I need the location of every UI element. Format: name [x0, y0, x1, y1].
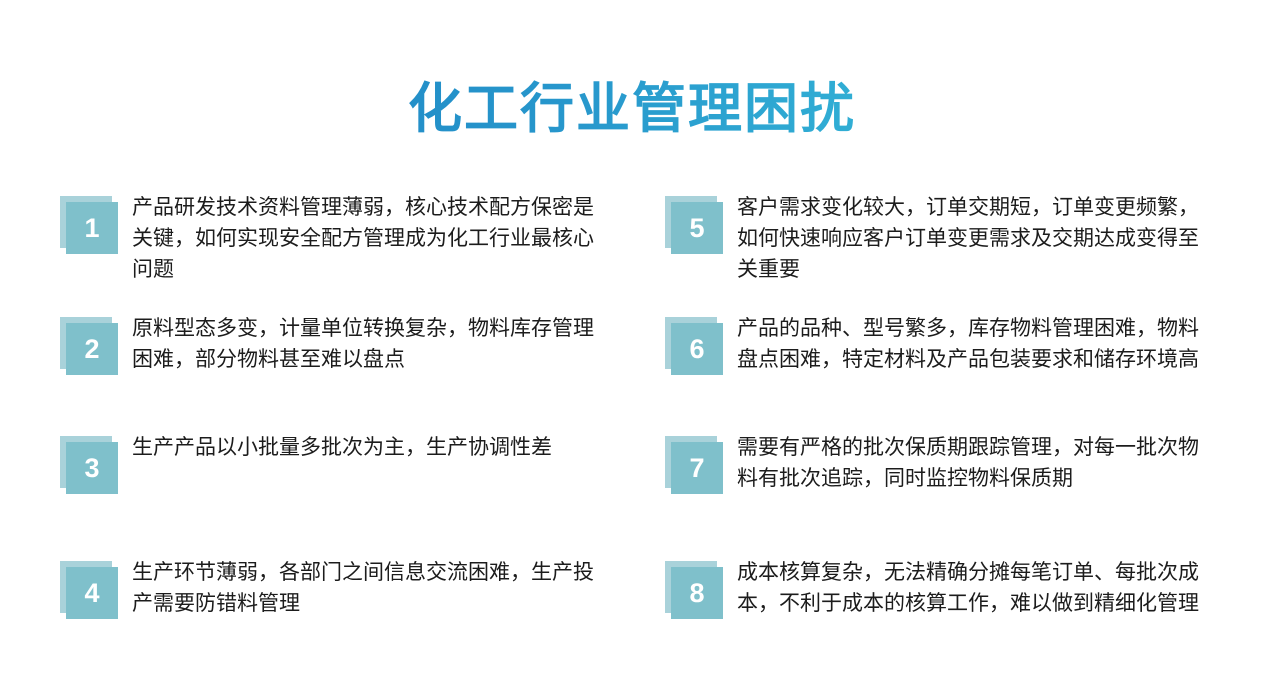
list-item-text: 产品研发技术资料管理薄弱，核心技术配方保密是关键，如何实现安全配方管理成为化工行… — [132, 192, 610, 285]
number-badge: 7 — [663, 436, 725, 498]
list-item: 1 产品研发技术资料管理薄弱，核心技术配方保密是关键，如何实现安全配方管理成为化… — [58, 192, 618, 285]
list-item: 7 需要有严格的批次保质期跟踪管理，对每一批次物料有批次追踪，同时监控物料保质期 — [663, 432, 1223, 498]
badge-front-square: 8 — [671, 567, 723, 619]
issue-columns: 1 产品研发技术资料管理薄弱，核心技术配方保密是关键，如何实现安全配方管理成为化… — [0, 180, 1264, 680]
number-badge: 6 — [663, 317, 725, 379]
number-badge: 3 — [58, 436, 120, 498]
list-item-text: 成本核算复杂，无法精确分摊每笔订单、每批次成本，不利于成本的核算工作，难以做到精… — [737, 557, 1215, 619]
badge-number: 4 — [84, 580, 99, 607]
badge-front-square: 7 — [671, 442, 723, 494]
badge-front-square: 6 — [671, 323, 723, 375]
badge-number: 8 — [689, 580, 704, 607]
page-title: 化工行业管理困扰 — [0, 80, 1264, 139]
list-item-text: 生产环节薄弱，各部门之间信息交流困难，生产投产需要防错料管理 — [132, 557, 610, 619]
list-item-text: 需要有严格的批次保质期跟踪管理，对每一批次物料有批次追踪，同时监控物料保质期 — [737, 432, 1215, 494]
list-item-text: 原料型态多变，计量单位转换复杂，物料库存管理困难，部分物料甚至难以盘点 — [132, 313, 610, 375]
list-item: 2 原料型态多变，计量单位转换复杂，物料库存管理困难，部分物料甚至难以盘点 — [58, 313, 618, 379]
list-item: 4 生产环节薄弱，各部门之间信息交流困难，生产投产需要防错料管理 — [58, 557, 618, 623]
badge-front-square: 2 — [66, 323, 118, 375]
list-item-text: 客户需求变化较大，订单交期短，订单变更频繁，如何快速响应客户订单变更需求及交期达… — [737, 192, 1215, 285]
badge-number: 6 — [689, 336, 704, 363]
number-badge: 4 — [58, 561, 120, 623]
list-item-text: 产品的品种、型号繁多，库存物料管理困难，物料盘点困难，特定材料及产品包装要求和储… — [737, 313, 1215, 375]
list-item: 3 生产产品以小批量多批次为主，生产协调性差 — [58, 432, 618, 498]
list-item: 8 成本核算复杂，无法精确分摊每笔订单、每批次成本，不利于成本的核算工作，难以做… — [663, 557, 1223, 623]
badge-front-square: 1 — [66, 202, 118, 254]
badge-number: 3 — [84, 455, 99, 482]
badge-number: 5 — [689, 215, 704, 242]
number-badge: 8 — [663, 561, 725, 623]
badge-front-square: 5 — [671, 202, 723, 254]
badge-number: 1 — [84, 215, 99, 242]
number-badge: 2 — [58, 317, 120, 379]
badge-front-square: 3 — [66, 442, 118, 494]
list-item: 5 客户需求变化较大，订单交期短，订单变更频繁，如何快速响应客户订单变更需求及交… — [663, 192, 1223, 285]
number-badge: 1 — [58, 196, 120, 258]
badge-number: 2 — [84, 336, 99, 363]
list-item: 6 产品的品种、型号繁多，库存物料管理困难，物料盘点困难，特定材料及产品包装要求… — [663, 313, 1223, 379]
badge-front-square: 4 — [66, 567, 118, 619]
badge-number: 7 — [689, 455, 704, 482]
number-badge: 5 — [663, 196, 725, 258]
list-item-text: 生产产品以小批量多批次为主，生产协调性差 — [132, 432, 610, 463]
